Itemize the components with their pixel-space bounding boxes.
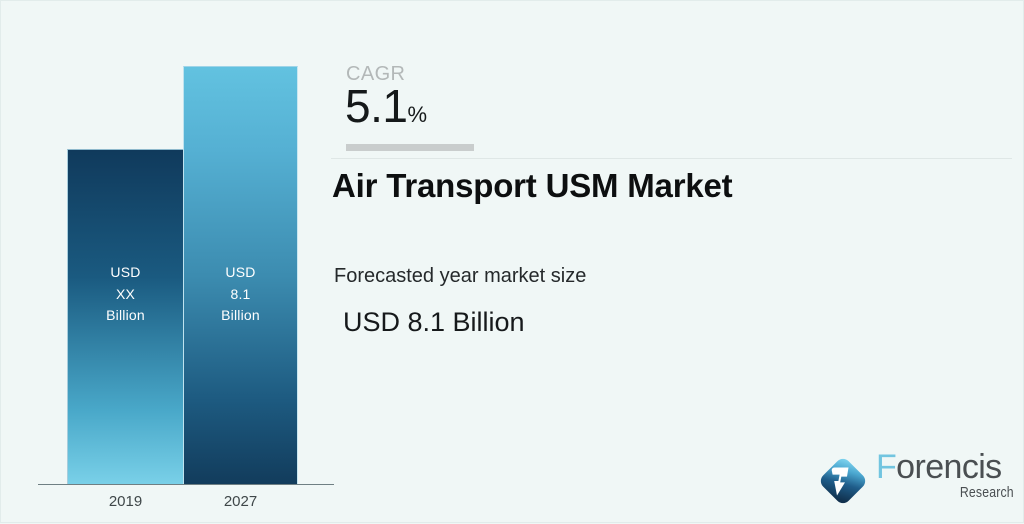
cagr-value: 5.1% — [345, 83, 427, 129]
forencis-diamond-icon — [814, 452, 872, 510]
market-infographic: USD XX Billion USD 8.1 Billion 2019 2027… — [0, 0, 1024, 523]
bar-2027-amount: 8.1 — [184, 284, 297, 306]
forecast-value: USD 8.1 Billion — [343, 307, 525, 338]
logo-name-initial: F — [876, 448, 896, 486]
logo-wordmark: Forencis Research — [876, 450, 1016, 484]
x-tick-2027: 2027 — [183, 493, 298, 510]
bar-2019-currency: USD — [68, 262, 183, 284]
bar-chart: USD XX Billion USD 8.1 Billion 2019 2027 — [1, 1, 341, 524]
x-tick-2019: 2019 — [67, 493, 184, 510]
logo-name-rest: orencis — [896, 448, 1001, 486]
logo-name: Forencis — [876, 450, 1016, 484]
bar-2027-label: USD 8.1 Billion — [184, 262, 297, 327]
summary-panel: CAGR 5.1% Air Transport USM Market Forec… — [331, 1, 1024, 524]
x-axis-line — [38, 484, 334, 485]
bar-2019: USD XX Billion — [67, 149, 184, 484]
forecast-label: Forecasted year market size — [334, 265, 586, 288]
bar-2027-unit: Billion — [184, 305, 297, 327]
page-title: Air Transport USM Market — [332, 167, 732, 205]
bar-2019-unit: Billion — [68, 305, 183, 327]
bar-2027-currency: USD — [184, 262, 297, 284]
section-divider — [331, 158, 1012, 159]
logo-tagline: Research — [960, 484, 1014, 501]
bar-2027: USD 8.1 Billion — [183, 66, 298, 484]
cagr-percent-symbol: % — [407, 102, 427, 127]
bar-2019-amount: XX — [68, 284, 183, 306]
cagr-underline — [346, 144, 474, 151]
forencis-research-logo: Forencis Research — [814, 448, 1014, 514]
cagr-number: 5.1 — [345, 80, 407, 132]
bar-2019-label: USD XX Billion — [68, 262, 183, 327]
